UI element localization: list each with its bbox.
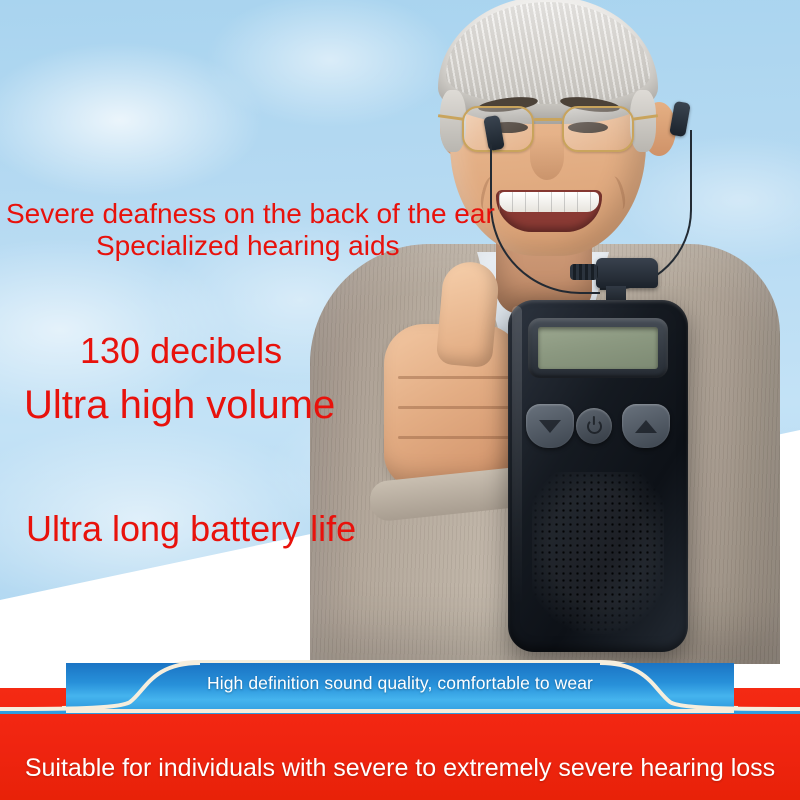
volume-down-button[interactable]	[526, 404, 574, 448]
pocket-hearing-aid-device	[508, 300, 688, 652]
headline-line-3: 130 decibels	[80, 330, 282, 372]
headline-line-2: Specialized hearing aids	[96, 230, 400, 262]
knuckle-line	[398, 406, 516, 409]
headline-line-4: Ultra high volume	[24, 383, 335, 428]
lcd-screen	[538, 327, 658, 369]
lcd-bezel	[528, 318, 668, 378]
glasses-bridge	[534, 118, 562, 121]
banner-ribbon-shape	[0, 652, 800, 714]
feature-banner: High definition sound quality, comfortab…	[0, 652, 800, 714]
headline-line-5: Ultra long battery life	[26, 508, 356, 550]
knuckle-line	[398, 376, 516, 379]
volume-up-button[interactable]	[622, 404, 670, 448]
triangle-down-icon	[539, 420, 561, 433]
headphone-plug	[596, 258, 658, 288]
advertisement-image: Severe deafness on the back of the ear S…	[0, 0, 800, 800]
device-button-row	[508, 404, 688, 456]
footer-caption: Suitable for individuals with severe to …	[0, 754, 800, 783]
headline-line-1: Severe deafness on the back of the ear	[6, 198, 495, 230]
speaker-grille	[532, 472, 664, 634]
triangle-up-icon	[635, 420, 657, 433]
thumbs-up-hand	[378, 262, 528, 488]
power-icon	[587, 419, 602, 434]
thumb	[436, 260, 501, 368]
knuckle-line	[398, 436, 516, 439]
power-button[interactable]	[576, 408, 612, 444]
